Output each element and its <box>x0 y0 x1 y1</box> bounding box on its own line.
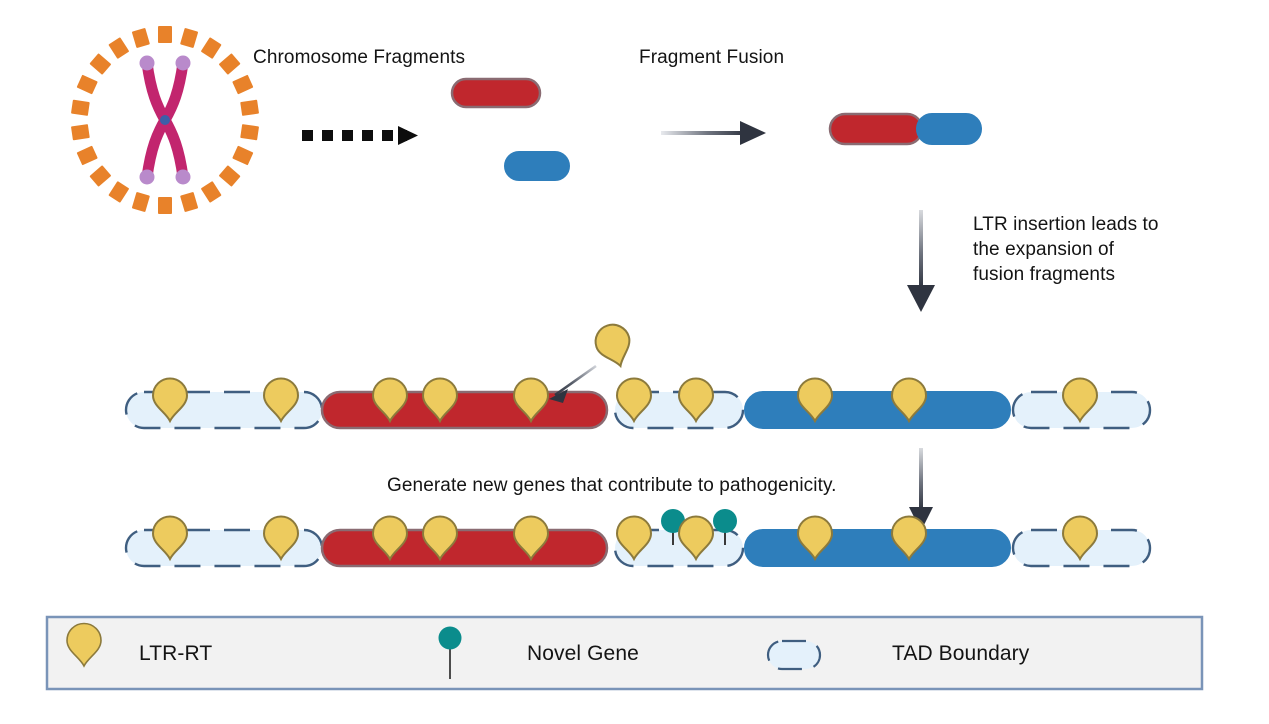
legend-tad-boundary-icon <box>768 641 820 669</box>
fused-fragment <box>830 114 981 144</box>
legend-label-ltr-rt: LTR-RT <box>139 641 212 666</box>
red-fragment <box>452 79 540 107</box>
diagram-canvas: Chromosome Fragments Fragment Fusion LTR… <box>0 0 1269 724</box>
centromere-icon <box>160 115 170 125</box>
legend-label-tad-boundary: TAD Boundary <box>892 641 1029 666</box>
novel-gene-row <box>126 509 1150 566</box>
ltr-rt-teardrop-icon <box>591 320 636 371</box>
expanded-fusion-row <box>126 379 1150 429</box>
fused-blue-segment <box>917 114 981 144</box>
arrow-right-icon <box>661 121 766 145</box>
blue-fusion-segment <box>745 392 1010 428</box>
blue-fragment <box>505 152 569 180</box>
arrow-down-icon-1 <box>907 210 935 312</box>
dotted-arrow-right-icon <box>302 126 418 145</box>
legend-label-novel-gene: Novel Gene <box>527 641 639 666</box>
red-fusion-segment-2 <box>322 530 607 566</box>
fused-red-segment <box>830 114 922 144</box>
blue-fusion-segment-2 <box>745 530 1010 566</box>
chromosome-icon <box>71 26 259 214</box>
diagram-svg <box>0 0 1269 724</box>
